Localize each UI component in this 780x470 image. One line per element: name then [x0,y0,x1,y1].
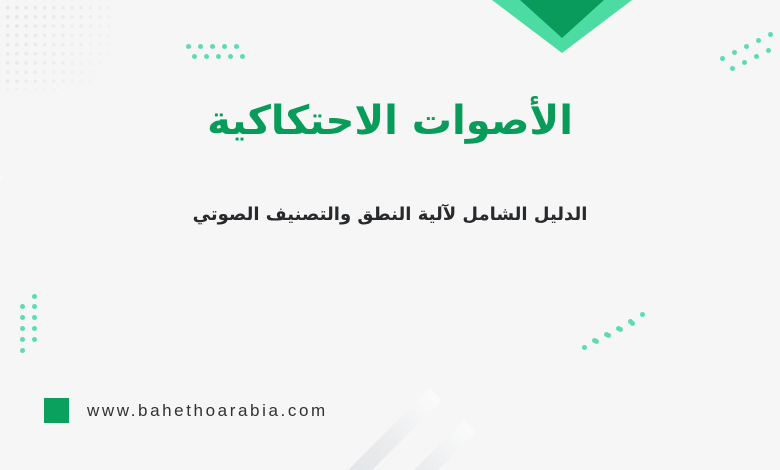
page-subtitle: الدليل الشامل لآلية النطق والتصنيف الصوت… [0,146,780,225]
dot [32,294,37,299]
dot [592,338,597,343]
dot [628,319,633,324]
grey-dot-grid-decoration [0,0,112,90]
dot [216,54,221,59]
dot [732,50,737,55]
diagonal-slash-bottom-2 [365,420,476,470]
banner-content: الأصوات الاحتكاكية الدليل الشامل لآلية ا… [0,96,780,225]
dot [186,44,191,49]
dot [756,38,761,43]
dot [20,315,25,320]
dot [582,345,587,350]
dot [20,337,25,342]
dot [604,332,609,337]
dot [754,54,759,59]
banner-card: الأصوات الاحتكاكية الدليل الشامل لآلية ا… [0,0,780,470]
dot [640,312,645,317]
dot [198,44,203,49]
chevron-down-icon-inner [520,0,604,38]
dot [222,44,227,49]
dot [766,48,771,53]
dot [20,326,25,331]
website-url[interactable]: www.bahethoarabia.com [87,401,328,421]
dot [744,44,749,49]
dot [32,326,37,331]
dot [720,56,725,61]
dot [742,60,747,65]
dot [730,66,735,71]
dot [32,337,37,342]
dot [240,54,245,59]
footer-branding: www.bahethoarabia.com [44,398,328,423]
dot [234,44,239,49]
page-title: الأصوات الاحتكاكية [0,96,780,146]
dot [768,32,773,37]
dot [32,315,37,320]
dot [20,304,25,309]
dot [192,54,197,59]
diagonal-slash-bottom-1 [324,388,442,470]
dot [20,348,25,353]
dot [228,54,233,59]
dot [32,304,37,309]
dot [204,54,209,59]
brand-square-icon [44,398,69,423]
dot [210,44,215,49]
dot [616,326,621,331]
chevron-down-icon-outer [492,0,632,53]
